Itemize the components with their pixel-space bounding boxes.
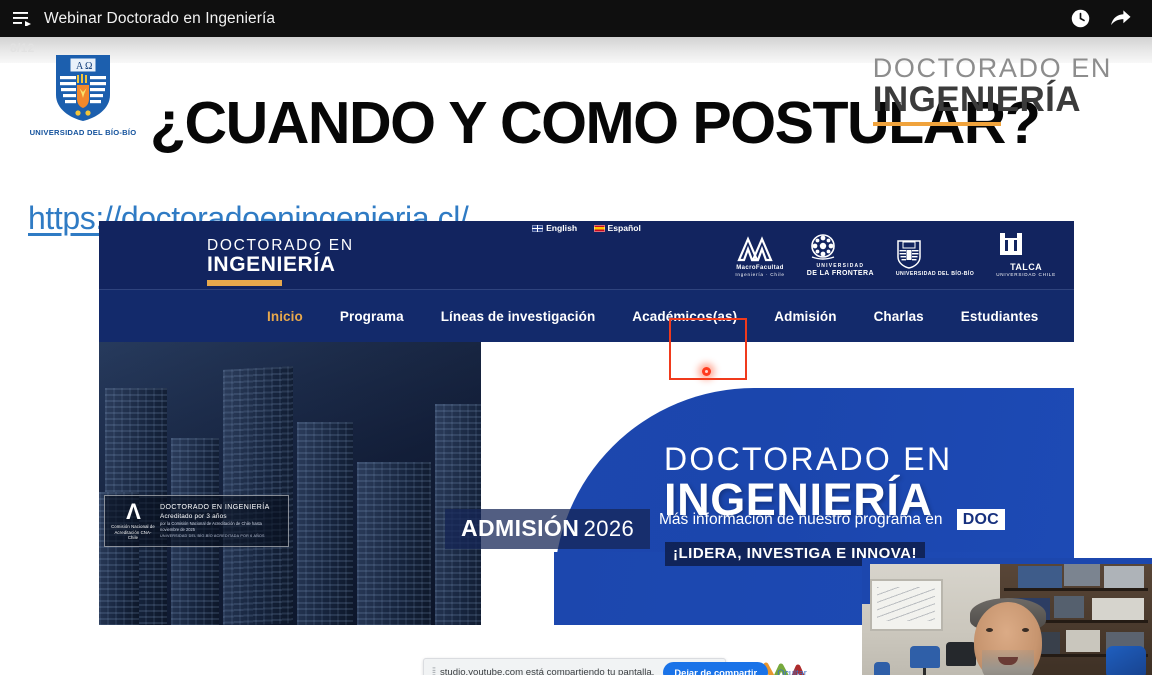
stop-sharing-button[interactable]: Dejar de compartir [663,662,768,675]
pip-overlay-top [862,558,1152,564]
site-header: English Español DOCTORADO EN INGENIERÍA [99,221,1074,289]
nav-item-charlas[interactable]: Charlas [874,309,924,324]
flag-uk-icon [532,225,543,232]
uni-biobio-name: UNIVERSIDAD DEL BÍO-BÍO [896,272,974,278]
pip-chair-3 [946,642,976,666]
brand-accent-bar [873,122,1001,126]
playlist-icon[interactable] [0,11,44,26]
cna-agency-name: Comisión Nacional de Acreditación CNA-Ch… [111,524,155,540]
site-navigation: Inicio Programa Líneas de investigación … [99,289,1074,342]
pip-chair-2 [874,662,890,675]
ubb-logo: A Ω UNIVERSIDAD DEL BÍO-B [24,51,142,137]
lang-english[interactable]: English [532,223,577,233]
talca-icon [996,231,1056,259]
uni-talca: TALCA UNIVERSIDAD CHILE [996,231,1056,278]
share-icon[interactable] [1109,8,1132,29]
accreditation-badge: Λ Comisión Nacional de Acreditación CNA-… [104,495,289,547]
accreditation-text: DOCTORADO EN INGENIERÍA Acreditado por 3… [155,504,282,538]
cna-mark-icon: Λ [111,501,155,523]
accreditation-title: DOCTORADO EN INGENIERÍA [160,504,282,511]
accreditation-line1: Acreditado por 3 años [160,513,282,520]
partner-universities: MacroFacultad Ingeniería · Chile [735,231,1056,278]
brand-line1: DOCTORADO EN [873,54,1112,82]
pip-chair-1 [910,646,940,668]
ufro-icon [807,233,874,261]
site-logo[interactable]: DOCTORADO EN INGENIERÍA [207,237,354,286]
hero-more-info: Más información de nuestro programa en D… [659,511,1005,529]
player-header-actions [1070,8,1152,29]
hide-notification-link[interactable]: Ocultar [777,668,807,675]
uni-macrofacultad: MacroFacultad Ingeniería · Chile [735,236,784,277]
nav-item-admision[interactable]: Admisión [774,309,836,324]
slide-title: ¿CUANDO Y COMO POSTULAR? [150,94,920,153]
site-logo-line2: INGENIERÍA [207,254,354,277]
ubb-icon-secondary [908,355,981,382]
uni-frontera-name: UNIVERSIDAD [807,264,874,270]
accreditation-line3: UNIVERSIDAD DEL BÍO-BÍO ACREDITADA POR 6… [160,534,282,538]
ufro-icon-secondary [802,349,865,374]
partner-universities-secondary: MacroFacultad UNIVERSIDAD DE L [710,349,1054,390]
uni-talca-name: TALCA [996,262,1056,272]
ubb-logo-caption: UNIVERSIDAD DEL BÍO-BÍO [24,128,142,137]
uni-macrofacultad-sub: Ingeniería · Chile [735,272,784,277]
lang-english-label: English [546,223,577,233]
accreditation-line2: por la Comisión Nacional de Acreditación… [160,521,282,532]
nav-item-estudiantes[interactable]: Estudiantes [961,309,1039,324]
lang-espanol-label: Español [608,223,641,233]
svg-text:A: A [76,61,84,72]
macrofacultad-icon [735,236,784,262]
nav-item-programa[interactable]: Programa [340,309,404,324]
ubb-icon [896,239,974,269]
doctorado-brand-logo: DOCTORADO EN INGENIERÍA [873,54,1112,126]
pip-overlay-left [862,564,870,604]
uni-biobio: UNIVERSIDAD DEL BÍO-BÍO [896,239,974,278]
watch-later-icon[interactable] [1070,8,1091,29]
ubb-shield-icon: A Ω [52,51,114,123]
player-title: Webinar Doctorado en Ingeniería [44,10,275,28]
cursor-pointer-indicator [702,367,711,376]
macrofacultad-icon-secondary [710,356,758,380]
uni-macrofacultad-name: MacroFacultad [735,265,784,272]
player-header: Webinar Doctorado en Ingeniería [0,0,1152,37]
pip-blue-bag [1106,646,1146,675]
lang-espanol[interactable]: Español [594,223,641,233]
hero-more-info-text: Más información de nuestro programa en [659,511,942,528]
webcam-pip[interactable] [862,558,1152,675]
screen-share-notification: ⦙⦙ studio.youtube.com está compartiendo … [423,658,726,675]
drag-handle-icon[interactable]: ⦙⦙ [432,666,435,675]
brand-line2: INGENIERÍA [873,82,1112,119]
admision-badge-label: ADMISIÓN [461,515,579,541]
admision-badge-year: 2026 [584,516,635,541]
screen-share-message: studio.youtube.com está compartiendo tu … [440,667,654,675]
hero-title-line1: DOCTORADO EN [664,442,952,477]
hero-more-info-badge: DOC [957,509,1005,530]
cna-logo: Λ Comisión Nacional de Acreditación CNA-… [111,501,155,540]
nav-item-lineas[interactable]: Líneas de investigación [441,309,596,324]
flag-es-icon [594,225,605,232]
svg-text:Ω: Ω [85,61,92,72]
nav-item-academicos[interactable]: Académicos(as) [632,309,737,324]
talca-icon-secondary [1025,353,1054,378]
pip-whiteboard [870,579,943,631]
nav-item-inicio[interactable]: Inicio [267,309,303,324]
uni-frontera-sub: DE LA FRONTERA [807,270,874,278]
uni-talca-sub: UNIVERSIDAD CHILE [996,272,1056,277]
uni-frontera: UNIVERSIDAD DE LA FRONTERA [807,233,874,278]
site-logo-line1: DOCTORADO EN [207,237,354,254]
admision-2026-badge: ADMISIÓN 2026 [445,509,650,549]
presentation-slide: 8/12 A Ω [0,37,1152,675]
site-logo-accent-bar [207,280,282,286]
